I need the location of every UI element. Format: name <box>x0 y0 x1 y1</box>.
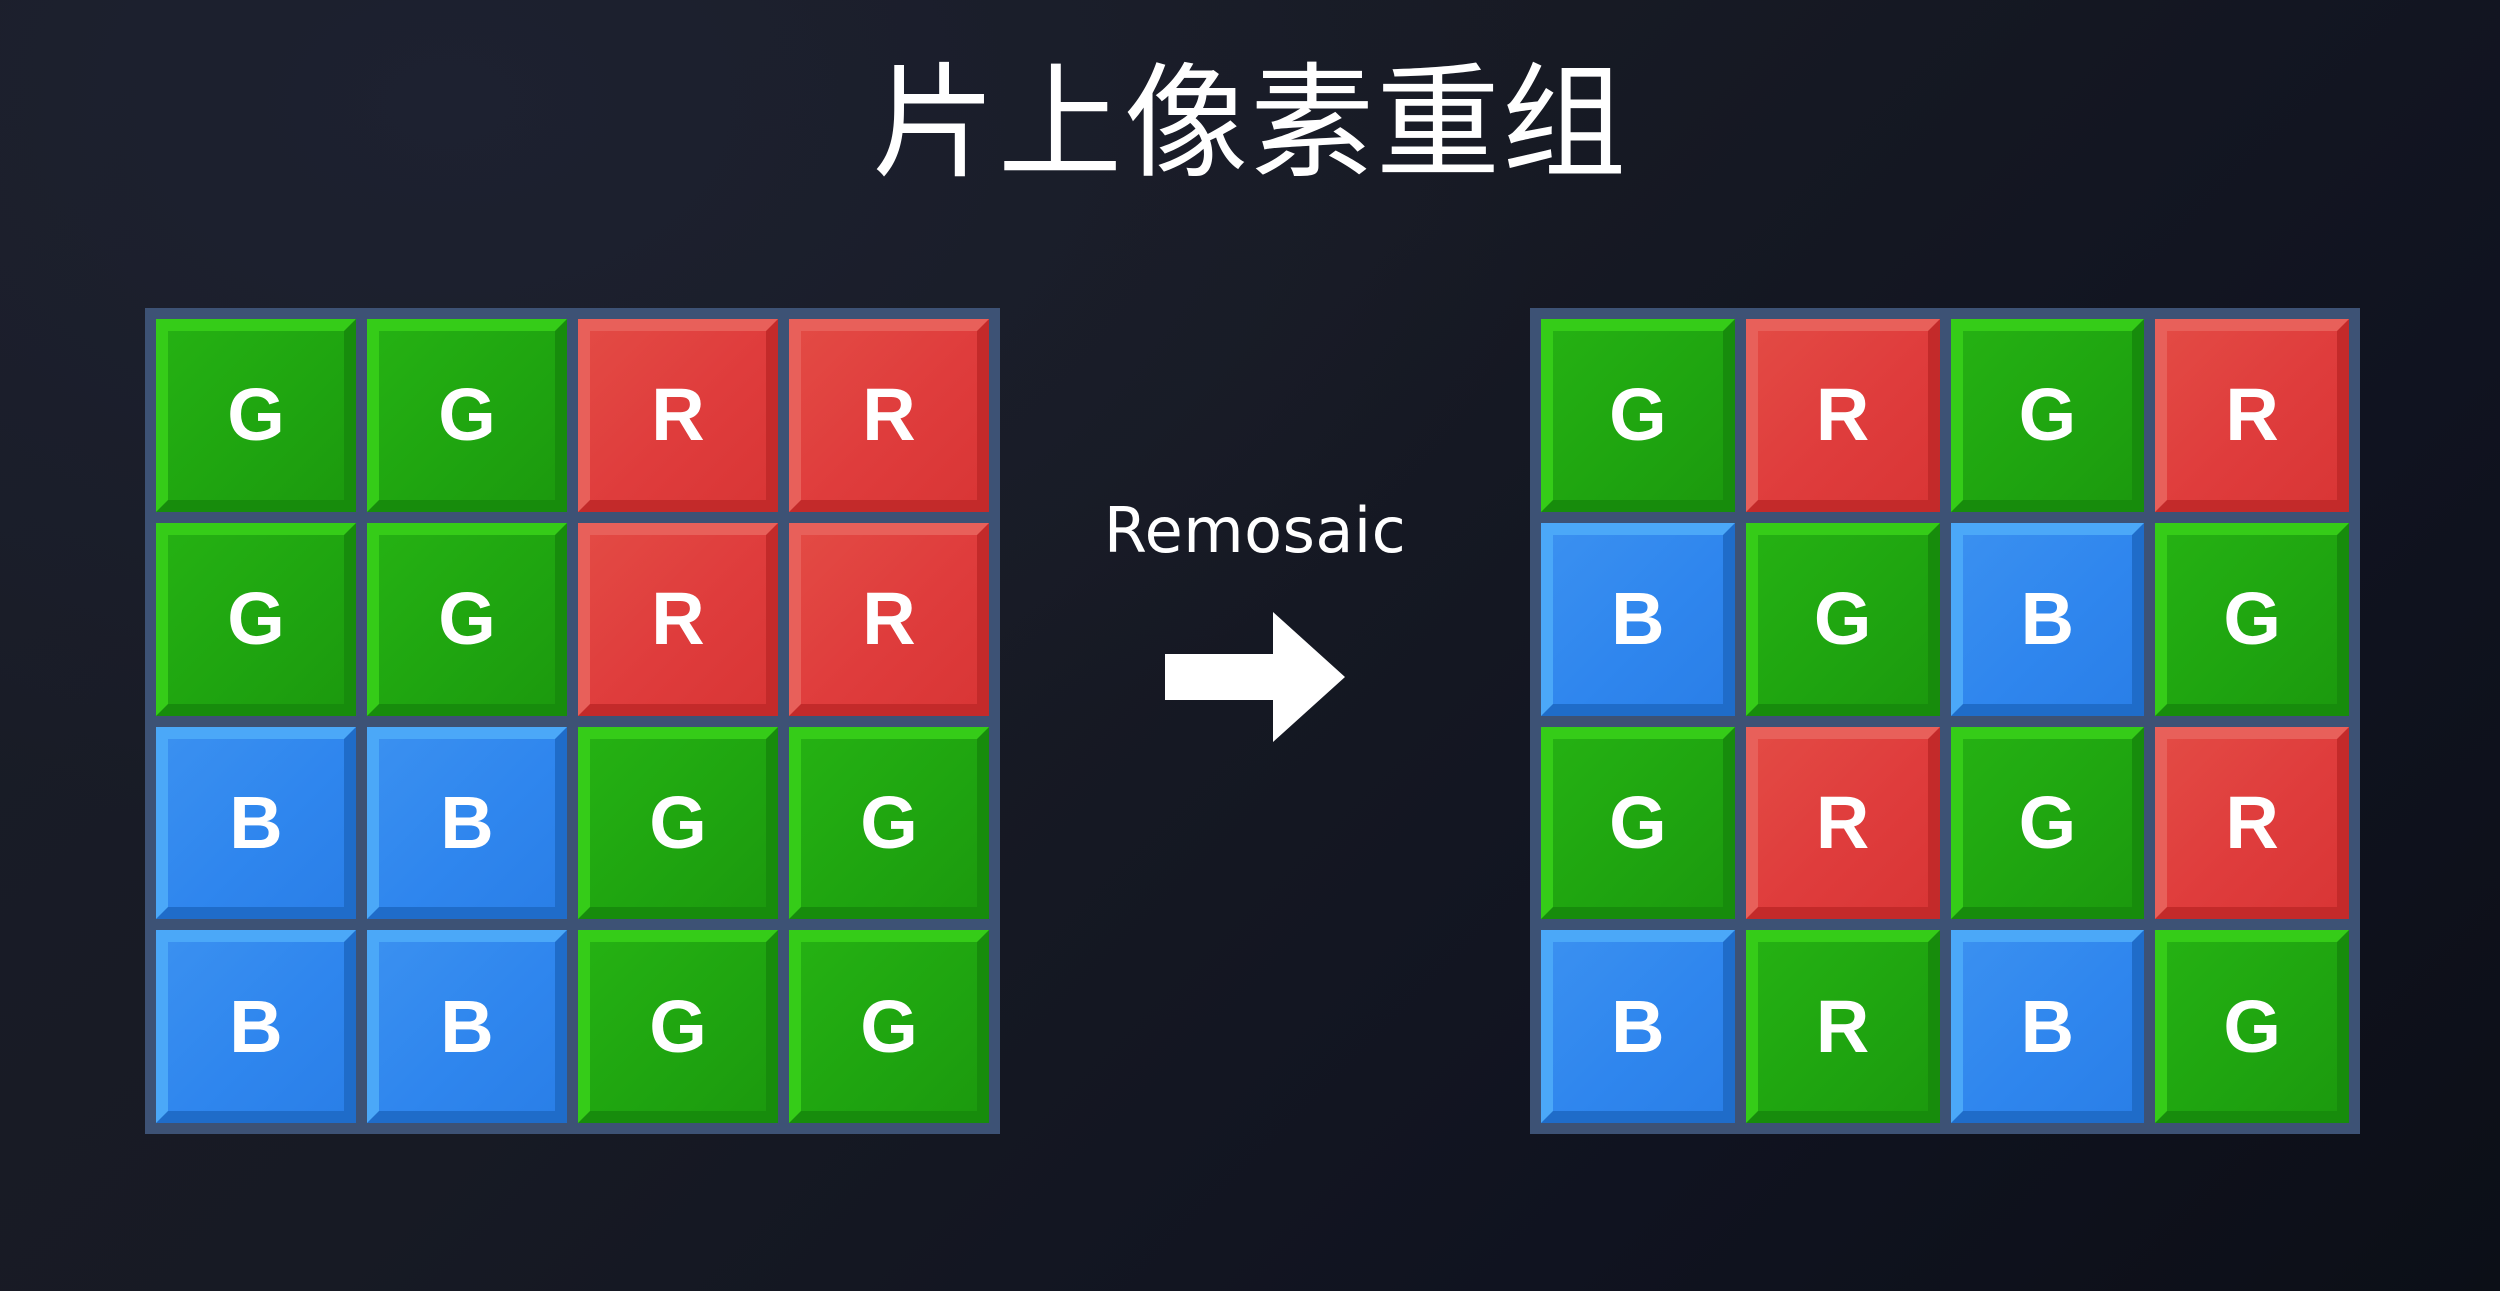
tile-letter: G <box>1609 786 1667 860</box>
tile-letter: G <box>1609 378 1667 452</box>
pixel-tile: R <box>1746 727 1940 920</box>
tile-letter: B <box>440 786 493 860</box>
tile-letter: B <box>2021 582 2074 656</box>
pixel-tile: G <box>789 727 989 920</box>
tile-letter: G <box>438 582 496 656</box>
tile-letter: G <box>1814 582 1872 656</box>
pixel-tile: B <box>1951 523 2145 716</box>
tile-letter: G <box>860 786 918 860</box>
pixel-tile: G <box>578 727 778 920</box>
pixel-tile: B <box>1541 930 1735 1123</box>
pixel-tile: B <box>1541 523 1735 716</box>
tile-letter: G <box>649 786 707 860</box>
tile-letter: R <box>1816 786 1869 860</box>
pixel-tile: R <box>1746 319 1940 512</box>
tile-letter: G <box>649 990 707 1064</box>
tile-letter: G <box>227 378 285 452</box>
pixel-tile: R <box>2155 319 2349 512</box>
tile-letter: G <box>2223 582 2281 656</box>
transform-annotation: Remosaic <box>1060 500 1450 742</box>
pixel-tile: R <box>2155 727 2349 920</box>
tile-letter: G <box>860 990 918 1064</box>
remosaic-label: Remosaic <box>1060 500 1450 562</box>
pixel-tile: R <box>1746 930 1940 1123</box>
pixel-tile: R <box>578 319 778 512</box>
pixel-tile: G <box>1951 727 2145 920</box>
tile-letter: G <box>2019 378 2077 452</box>
pixel-tile: R <box>578 523 778 716</box>
pixel-tile: G <box>156 523 356 716</box>
pixel-tile: G <box>1541 727 1735 920</box>
tile-letter: R <box>862 378 915 452</box>
pixel-tile: G <box>1951 319 2145 512</box>
pixel-tile: B <box>156 727 356 920</box>
tile-letter: B <box>229 786 282 860</box>
bayer-grid: GRGRBGBGGRGRBRBG <box>1530 308 2360 1134</box>
pixel-tile: G <box>1541 319 1735 512</box>
pixel-tile: G <box>1746 523 1940 716</box>
arrow-right-icon <box>1165 612 1345 742</box>
tile-letter: R <box>862 582 915 656</box>
tile-letter: R <box>1816 990 1869 1064</box>
arrow-container <box>1060 612 1450 742</box>
pixel-tile: B <box>367 930 567 1123</box>
pixel-tile: R <box>789 319 989 512</box>
tile-letter: R <box>651 378 704 452</box>
pixel-tile: G <box>156 319 356 512</box>
tile-letter: G <box>227 582 285 656</box>
tile-letter: G <box>2223 990 2281 1064</box>
page-title: 片上像素重组 <box>0 58 2500 192</box>
tile-letter: R <box>2225 786 2278 860</box>
pixel-tile: G <box>367 319 567 512</box>
tile-letter: G <box>438 378 496 452</box>
tile-letter: R <box>651 582 704 656</box>
pixel-tile: G <box>2155 930 2349 1123</box>
tile-letter: R <box>1816 378 1869 452</box>
tile-letter: B <box>440 990 493 1064</box>
pixel-tile: B <box>156 930 356 1123</box>
tile-letter: B <box>2021 990 2074 1064</box>
pixel-tile: G <box>2155 523 2349 716</box>
pixel-tile: R <box>789 523 989 716</box>
tile-letter: B <box>229 990 282 1064</box>
slide-canvas: 片上像素重组 GGRRGGRRBBGGBBGG Remosaic GRGRBGB… <box>0 0 2500 1291</box>
pixel-tile: G <box>789 930 989 1123</box>
tile-letter: B <box>1611 582 1664 656</box>
tile-letter: G <box>2019 786 2077 860</box>
pixel-tile: B <box>367 727 567 920</box>
pixel-tile: B <box>1951 930 2145 1123</box>
pixel-tile: G <box>367 523 567 716</box>
pixel-tile: G <box>578 930 778 1123</box>
tile-letter: B <box>1611 990 1664 1064</box>
tile-letter: R <box>2225 378 2278 452</box>
quad-bayer-grid: GGRRGGRRBBGGBBGG <box>145 308 1000 1134</box>
